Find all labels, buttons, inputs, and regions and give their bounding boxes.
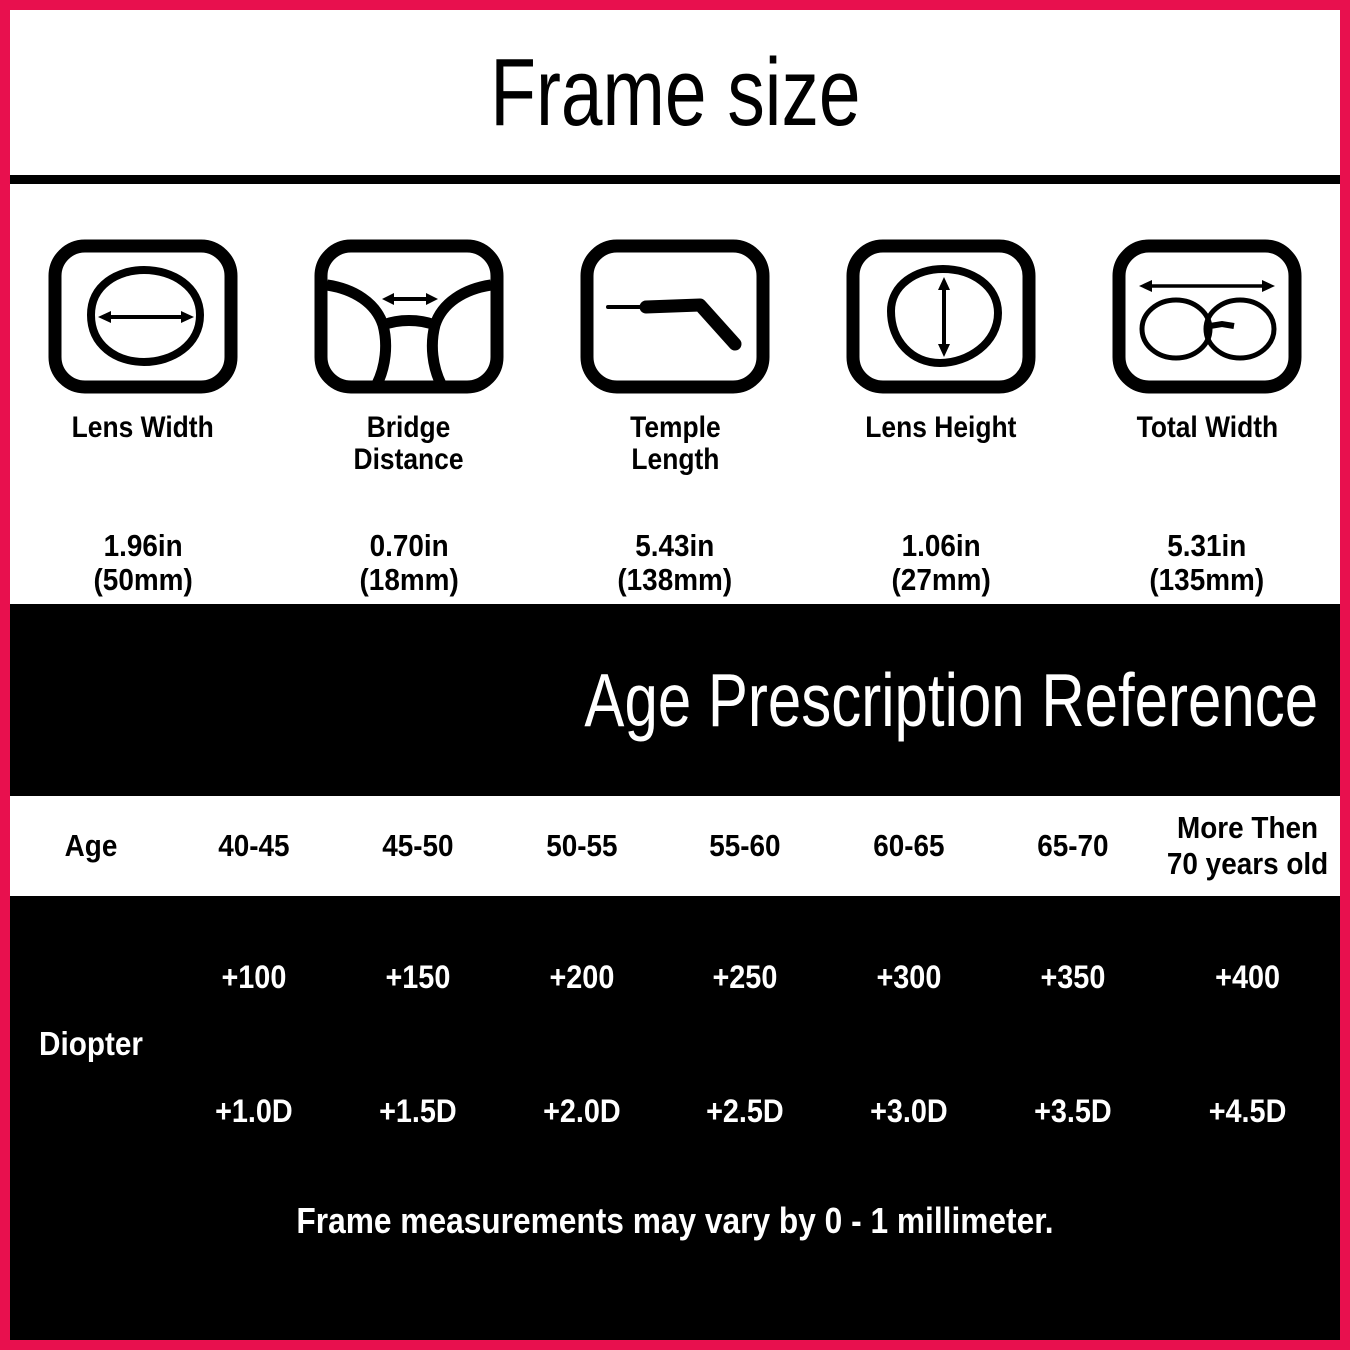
age-cell: More Then 70 years old <box>1164 810 1331 881</box>
age-cell: 45-50 <box>344 828 491 864</box>
age-cell: 55-60 <box>672 828 819 864</box>
spec-label: Lens Width <box>72 412 214 444</box>
lens-height-icon <box>846 239 1036 394</box>
title-band: Frame size <box>10 10 1340 175</box>
spec-label: Total Width <box>1136 412 1278 444</box>
diopter-label-row: Diopter <box>10 1016 1340 1072</box>
temple-length-icon <box>580 239 770 394</box>
spec-value: 1.06in (27mm) <box>891 529 990 604</box>
diopter-cell: +2.5D <box>672 1093 819 1130</box>
spec-grid: Lens Width 1.96in (50mm) Bridge Distance… <box>10 184 1340 604</box>
spec-item-bridge-distance: Bridge Distance 0.70in (18mm) <box>276 239 542 604</box>
diopter-cell: +350 <box>999 959 1146 996</box>
prescription-section-title: Age Prescription Reference <box>584 663 1318 738</box>
diopter-cell: +2.0D <box>508 1093 655 1130</box>
diopter-cell: +250 <box>672 959 819 996</box>
age-row: Age 40-45 45-50 50-55 55-60 60-65 65-70 … <box>10 796 1340 896</box>
spec-item-total-width: Total Width 5.31in (135mm) <box>1074 239 1340 604</box>
age-cell: 65-70 <box>999 828 1146 864</box>
spec-item-lens-height: Lens Height 1.06in (27mm) <box>808 239 1074 604</box>
title-divider <box>10 175 1340 184</box>
spec-item-lens-width: Lens Width 1.96in (50mm) <box>10 239 276 604</box>
spec-label: Bridge Distance <box>354 412 464 477</box>
spec-value: 5.43in (138mm) <box>618 529 733 604</box>
prescription-header-band: Age Prescription Reference <box>10 604 1340 796</box>
spec-item-temple-length: Temple Length 5.43in (138mm) <box>542 239 808 604</box>
diopter-cell: +1.0D <box>180 1093 327 1130</box>
diopter-cell: +200 <box>508 959 655 996</box>
diopter-decimal-row: +1.0D +1.5D +2.0D +2.5D +3.0D +3.5D +4.5… <box>10 1072 1340 1150</box>
diopter-cell: +100 <box>180 959 327 996</box>
diopter-cell: +3.0D <box>835 1093 982 1130</box>
age-cell: 50-55 <box>508 828 655 864</box>
diopter-cell: +300 <box>835 959 982 996</box>
bridge-distance-icon <box>314 239 504 394</box>
total-width-icon <box>1112 239 1302 394</box>
frame-size-infographic: Frame size Lens Width 1.96in (50mm) <box>0 0 1350 1350</box>
age-cell: 60-65 <box>835 828 982 864</box>
lens-width-icon <box>48 239 238 394</box>
age-cell: 40-45 <box>180 828 327 864</box>
spec-value: 5.31in (135mm) <box>1150 529 1265 604</box>
diopter-cell: +150 <box>344 959 491 996</box>
diopter-row-label: Diopter <box>18 1025 164 1063</box>
diopter-cell: +4.5D <box>1164 1093 1331 1130</box>
diopter-numeric-row: +100 +150 +200 +250 +300 +350 +400 <box>10 938 1340 1016</box>
diopter-cell: +400 <box>1164 959 1331 996</box>
diopter-cell: +3.5D <box>999 1093 1146 1130</box>
spec-value: 0.70in (18mm) <box>359 529 458 604</box>
age-row-label: Age <box>18 828 164 864</box>
spec-label: Temple Length <box>630 412 720 477</box>
page-title: Frame size <box>490 45 860 141</box>
diopter-block: +100 +150 +200 +250 +300 +350 +400 Diopt… <box>10 896 1340 1350</box>
spec-label: Lens Height <box>865 412 1016 444</box>
measurement-footnote: Frame measurements may vary by 0 - 1 mil… <box>90 1200 1260 1242</box>
spec-value: 1.96in (50mm) <box>93 529 192 604</box>
diopter-cell: +1.5D <box>344 1093 491 1130</box>
